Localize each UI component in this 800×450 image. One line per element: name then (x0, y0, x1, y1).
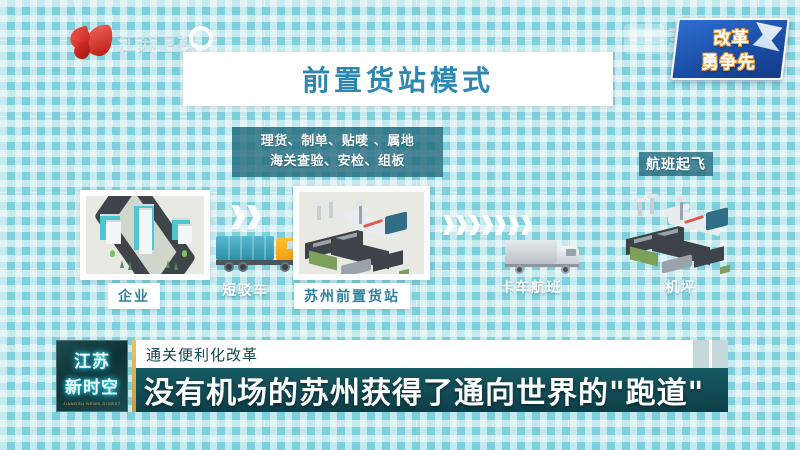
flight-departure-label: 航班起飞 (639, 152, 713, 176)
campaign-badge-line2: 勇争先 (673, 48, 785, 73)
broadcast-infographic: 江苏卫视 荔枝新闻 改革 勇争先 前置货站模式 理货、制单、贴唛 、属地 海关查… (0, 0, 800, 450)
lower-third-subtitle: 通关便利化改革 (136, 340, 728, 368)
process-note-line1: 理货、制单、贴唛 、属地 (239, 132, 436, 152)
box-truck-icon (505, 240, 583, 274)
broadcast-box-icon (624, 24, 664, 54)
node-label-shuttle: 短驳车 (222, 280, 269, 300)
campaign-badge: 改革 勇争先 (670, 18, 790, 80)
campaign-badge-line1: 改革 (676, 24, 788, 49)
page-title-text: 前置货站模式 (302, 59, 494, 99)
node-label-truck-flight: 卡车航班 (500, 277, 562, 297)
process-note-line2: 海关查验、安检、组板 (239, 152, 436, 172)
program-logo-latin: JIANGSU NEWS DIGEST (63, 401, 121, 406)
jiangsu-tv-flame-icon (70, 22, 112, 62)
lower-third-headline-text: 没有机场的苏州获得了通向世界的"跑道" (144, 368, 704, 412)
station-illustration-card (293, 186, 430, 280)
node-label-station: 苏州前置货站 (294, 283, 410, 309)
isometric-airport-icon (622, 188, 752, 280)
node-label-apron: 机坪 (665, 277, 696, 297)
channel-logo: 江苏卫视 (70, 22, 197, 62)
node-label-enterprise: 企业 (108, 283, 160, 309)
isometric-city-icon (86, 196, 204, 274)
program-logo: 江苏 新时空 JIANGSU NEWS DIGEST (56, 340, 128, 412)
lower-third: 江苏 新时空 JIANGSU NEWS DIGEST 通关便利化改革 没有机场的… (56, 340, 728, 412)
arrow-chevrons-short (231, 205, 261, 229)
lower-third-subtitle-text: 通关便利化改革 (146, 344, 258, 365)
title-ring-decoration (189, 26, 213, 50)
program-logo-line2: 新时空 (65, 373, 119, 398)
isometric-airport-cargo-icon (299, 192, 424, 274)
lower-third-headline: 没有机场的苏州获得了通向世界的"跑道" (136, 368, 728, 412)
program-logo-line1: 江苏 (74, 347, 110, 372)
process-note-box: 理货、制单、贴唛 、属地 海关查验、安检、组板 (232, 127, 443, 177)
arrow-chevrons-long (443, 215, 532, 235)
page-title: 前置货站模式 (183, 52, 613, 106)
enterprise-illustration-card (80, 190, 210, 280)
